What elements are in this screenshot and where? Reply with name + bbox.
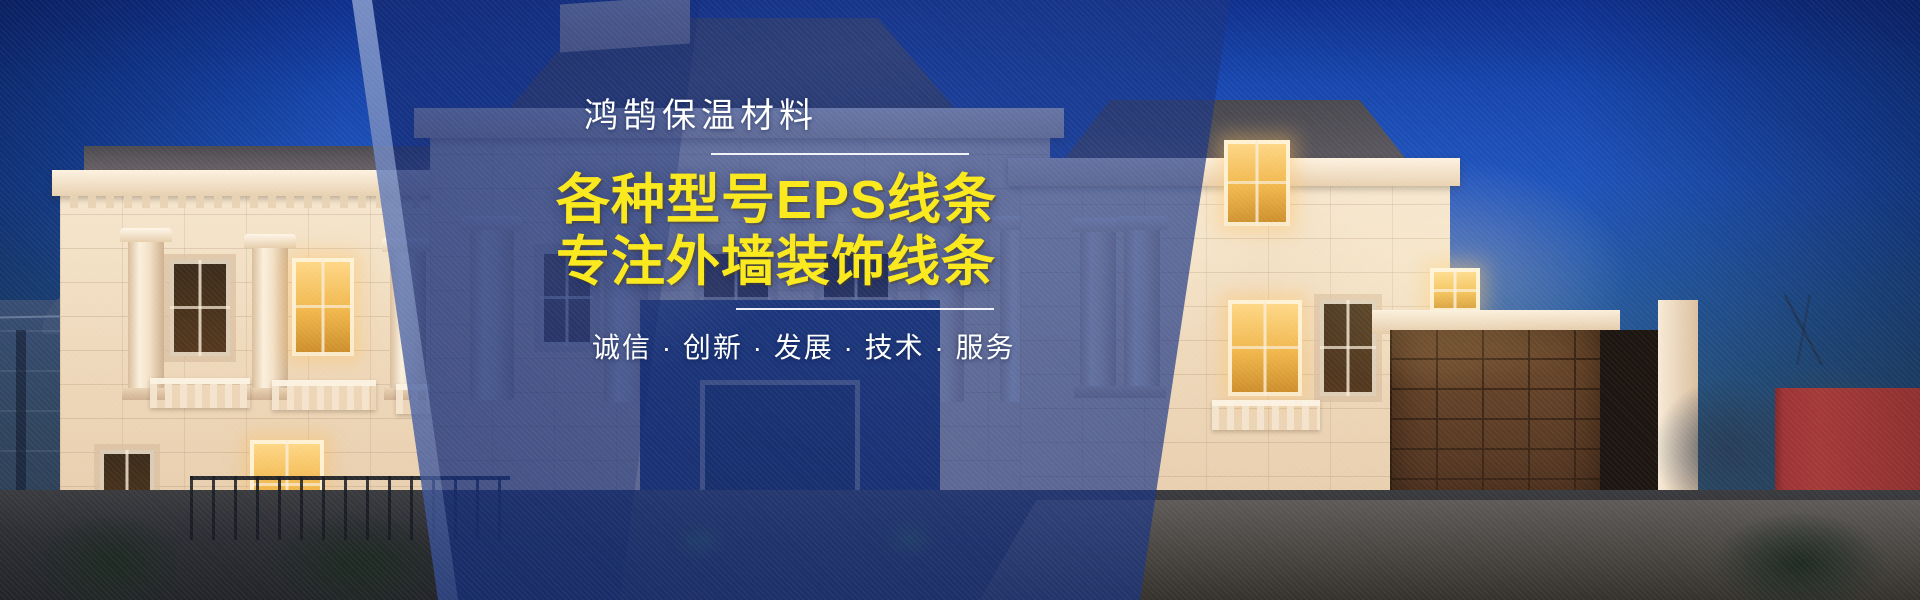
window	[1320, 300, 1376, 396]
window-lit	[292, 258, 354, 356]
column-capital	[120, 228, 172, 242]
hero-banner: 鸿鹄保温材料 各种型号EPS线条 专注外墙装饰线条 诚信 · 创新 · 发展 ·…	[0, 0, 1920, 600]
balustrade	[272, 380, 376, 410]
window-lit	[1224, 140, 1290, 226]
window-lit	[1430, 268, 1480, 312]
bare-branch	[1730, 295, 1880, 365]
brand-name: 鸿鹄保温材料	[584, 96, 1016, 137]
hedge	[0, 480, 220, 600]
hedge	[1680, 480, 1920, 600]
headline: 各种型号EPS线条 专注外墙装饰线条	[556, 169, 1016, 294]
banner-text-block: 鸿鹄保温材料 各种型号EPS线条 专注外墙装饰线条 诚信 · 创新 · 发展 ·…	[556, 96, 1016, 366]
column	[128, 240, 164, 390]
window	[170, 260, 230, 356]
garage-door	[1390, 330, 1600, 510]
divider-bottom	[736, 308, 994, 310]
tagline: 诚信 · 创新 · 发展 · 技术 · 服务	[592, 326, 1016, 366]
headline-line-2: 专注外墙装饰线条	[556, 231, 1016, 294]
column-capital	[244, 234, 296, 248]
window-lit	[1228, 300, 1302, 396]
balustrade	[150, 378, 250, 408]
headline-line-1: 各种型号EPS线条	[556, 170, 997, 230]
balustrade	[1212, 400, 1320, 430]
divider-top	[711, 153, 969, 155]
column	[252, 246, 288, 390]
